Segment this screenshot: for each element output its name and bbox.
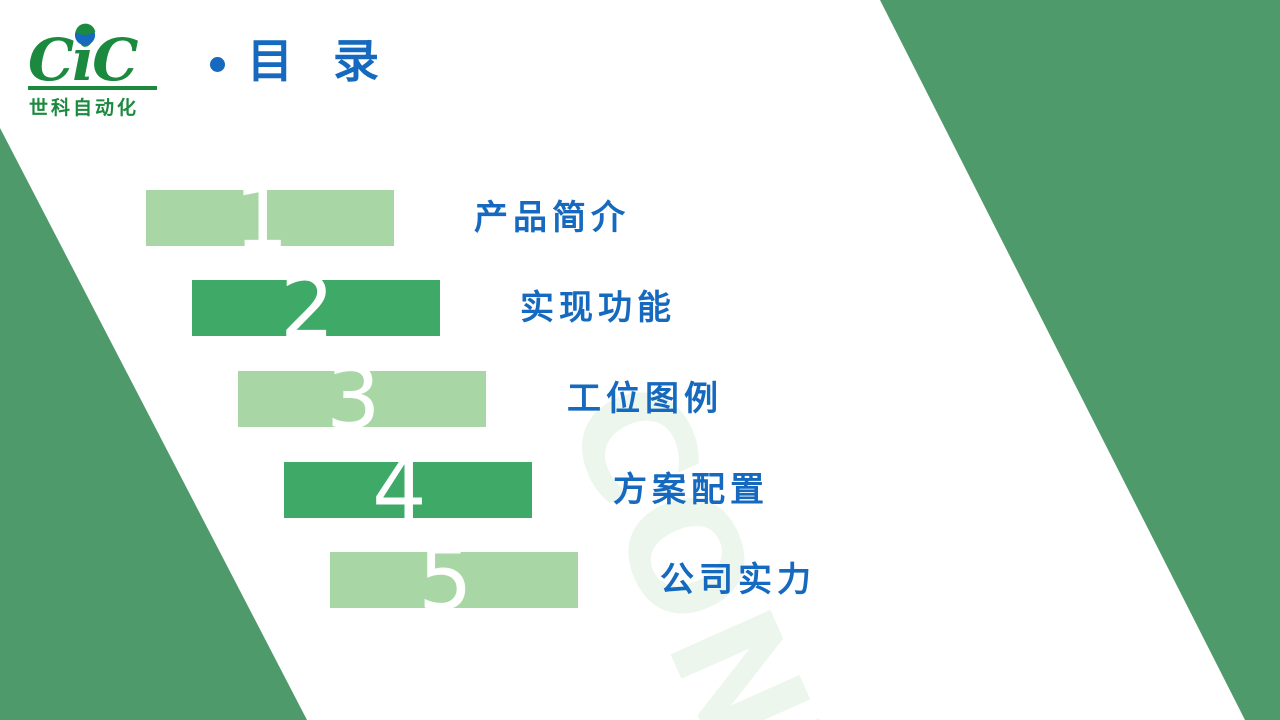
toc-list: 1产品简介2实现功能3工位图例4方案配置5公司实力: [0, 0, 1280, 720]
toc-item-label: 实现功能: [520, 291, 676, 325]
toc-item-number: 3: [326, 356, 381, 442]
toc-item-number: 2: [280, 265, 335, 351]
toc-item-number: 5: [418, 537, 473, 623]
toc-item-label: 工位图例: [567, 382, 723, 416]
toc-item-label: 产品简介: [474, 201, 630, 235]
toc-item-number: 4: [372, 447, 427, 533]
slide-root: CONTENTS CiC 世科自动化 目 录 1产品简介2实现功能3工位图例4方…: [0, 0, 1280, 720]
toc-item-label: 公司实力: [660, 563, 816, 597]
toc-item-number: 1: [234, 175, 289, 261]
toc-item-label: 方案配置: [613, 473, 769, 507]
